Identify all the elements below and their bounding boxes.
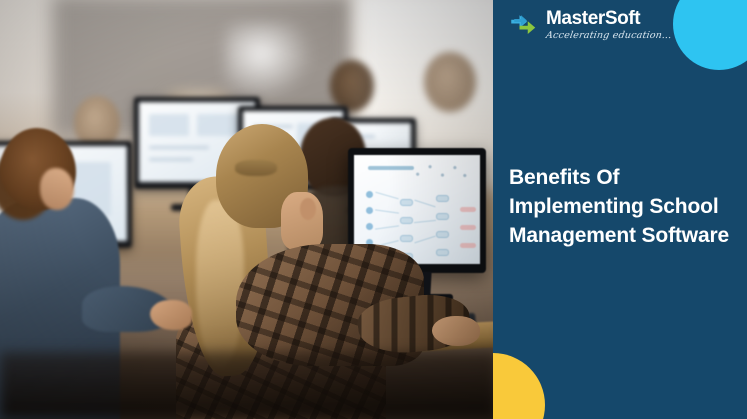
dashboard-chart-scatter xyxy=(409,161,471,183)
foreground-shadow xyxy=(0,352,497,419)
classroom-photo xyxy=(0,0,497,419)
title-panel: MasterSoft Accelerating education... Ben… xyxy=(493,0,747,419)
hair-tie xyxy=(235,160,277,176)
mastersoft-blog-banner: MasterSoft Accelerating education... Ben… xyxy=(0,0,747,419)
brand-name: MasterSoft xyxy=(546,9,672,29)
student-face xyxy=(40,168,74,210)
mastersoft-arrows-logo-icon xyxy=(509,11,539,39)
headline-line-1: Benefits Of xyxy=(509,163,734,192)
hair-strand xyxy=(196,200,244,368)
yellow-circle-decoration xyxy=(493,353,545,419)
student-hand-on-keyboard xyxy=(432,316,480,346)
mastersoft-logo: MasterSoft Accelerating education... xyxy=(509,9,672,41)
cyan-circle-decoration xyxy=(673,0,747,70)
logo-wordmark: MasterSoft Accelerating education... xyxy=(546,9,672,41)
whiteboard-glare xyxy=(225,22,315,102)
background-student-3 xyxy=(424,52,476,112)
brand-tagline: Accelerating education... xyxy=(545,30,672,41)
dashboard-title-placeholder xyxy=(368,166,414,170)
headline-line-3: Management Software xyxy=(509,221,734,250)
headline-line-2: Implementing School xyxy=(509,192,734,221)
background-student-2 xyxy=(330,60,374,112)
page-title: Benefits Of Implementing School Manageme… xyxy=(509,163,734,250)
student-ear xyxy=(300,198,316,220)
student-hand xyxy=(150,300,192,330)
